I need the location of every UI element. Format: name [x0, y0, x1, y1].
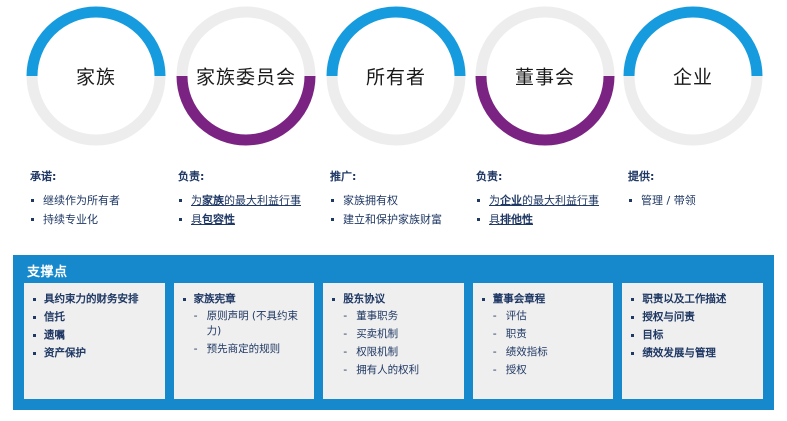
- circle-label-3: 所有者: [366, 63, 426, 90]
- band-bullet-text: 建立和保护家族财富: [343, 213, 442, 226]
- support-card-item: 资产保护: [30, 345, 159, 362]
- band-column-2: 负责:为家族的最大利益行事具包容性: [178, 168, 301, 229]
- support-card-subitem: 职责: [479, 327, 608, 342]
- band-column-heading: 负责:: [476, 168, 599, 184]
- support-card-4: 董事会章程评估职责绩效指标授权: [473, 283, 614, 399]
- band-bullet-text: 管理 / 带领: [641, 194, 696, 207]
- circle-label-4: 董事会: [515, 63, 575, 90]
- band-bullet-text: 家族拥有权: [343, 194, 398, 207]
- support-card-item: 董事会章程: [479, 291, 608, 308]
- band-bullet-text: 为家族的最大利益行事: [191, 194, 301, 207]
- band-bullet: 为企业的最大利益行事: [476, 191, 599, 210]
- support-card-item: 职责以及工作描述: [628, 291, 757, 308]
- band-bullet-text: 具排他性: [489, 213, 533, 226]
- support-card-item: 绩效发展与管理: [628, 345, 757, 362]
- circle-chain: 家族家族委员会所有者董事会企业: [0, 0, 787, 160]
- band-column-4: 负责:为企业的最大利益行事具排他性: [476, 168, 599, 229]
- band-column-5: 提供:管理 / 带领: [628, 168, 696, 210]
- band-bullet: 建立和保护家族财富: [330, 210, 442, 229]
- band-column-1: 承诺:继续作为所有者持续专业化: [30, 168, 120, 229]
- band-bullet-text: 具包容性: [191, 213, 235, 226]
- support-card-subitem: 绩效指标: [479, 345, 608, 360]
- support-card-subitem: 评估: [479, 309, 608, 324]
- support-card-subitem: 预先商定的规则: [180, 342, 309, 357]
- support-card-1: 具约束力的财务安排信托遗嘱资产保护: [24, 283, 165, 399]
- support-card-item: 信托: [30, 309, 159, 326]
- support-card-item: 家族宪章: [180, 291, 309, 308]
- circle-label-5: 企业: [673, 63, 713, 90]
- band-bullet: 持续专业化: [30, 210, 120, 229]
- band-column-heading: 承诺:: [30, 168, 120, 184]
- support-card-item: 目标: [628, 327, 757, 344]
- support-points-panel: 支撑点 具约束力的财务安排信托遗嘱资产保护家族宪章原则声明 (不具约束力)预先商…: [13, 255, 774, 410]
- band-column-heading: 提供:: [628, 168, 696, 184]
- band-bullet: 管理 / 带领: [628, 191, 696, 210]
- support-card-subitem: 权限机制: [329, 345, 458, 360]
- band-bullet: 为家族的最大利益行事: [178, 191, 301, 210]
- support-card-item: 具约束力的财务安排: [30, 291, 159, 308]
- support-card-3: 股东协议董事职务买卖机制权限机制拥有人的权利: [323, 283, 464, 399]
- support-card-subitem: 原则声明 (不具约束力): [180, 309, 309, 339]
- support-card-subitem: 买卖机制: [329, 327, 458, 342]
- band-bullet: 继续作为所有者: [30, 191, 120, 210]
- support-card-subitem: 董事职务: [329, 309, 458, 324]
- band-bullet: 家族拥有权: [330, 191, 442, 210]
- band-bullet: 具排他性: [476, 210, 599, 229]
- band-column-heading: 推广:: [330, 168, 442, 184]
- support-card-item: 股东协议: [329, 291, 458, 308]
- band-bullet-text: 持续专业化: [43, 213, 98, 226]
- support-card-item: 授权与问责: [628, 309, 757, 326]
- support-card-subitem: 授权: [479, 363, 608, 378]
- band-column-3: 推广:家族拥有权建立和保护家族财富: [330, 168, 442, 229]
- circle-label-1: 家族: [76, 63, 116, 90]
- band-column-heading: 负责:: [178, 168, 301, 184]
- support-points-cards: 具约束力的财务安排信托遗嘱资产保护家族宪章原则声明 (不具约束力)预先商定的规则…: [24, 283, 763, 399]
- band-bullet: 具包容性: [178, 210, 301, 229]
- support-points-title: 支撑点: [13, 255, 774, 280]
- support-card-subitem: 拥有人的权利: [329, 363, 458, 378]
- support-card-item: 遗嘱: [30, 327, 159, 344]
- circle-label-2: 家族委员会: [196, 63, 296, 90]
- band-bullet-text: 为企业的最大利益行事: [489, 194, 599, 207]
- support-card-2: 家族宪章原则声明 (不具约束力)预先商定的规则: [174, 283, 315, 399]
- band-bullet-text: 继续作为所有者: [43, 194, 120, 207]
- role-bullet-band: 承诺:继续作为所有者持续专业化负责:为家族的最大利益行事具包容性推广:家族拥有权…: [0, 168, 787, 248]
- diagram-root: 家族家族委员会所有者董事会企业 承诺:继续作为所有者持续专业化负责:为家族的最大…: [0, 0, 787, 421]
- support-card-5: 职责以及工作描述授权与问责目标绩效发展与管理: [622, 283, 763, 399]
